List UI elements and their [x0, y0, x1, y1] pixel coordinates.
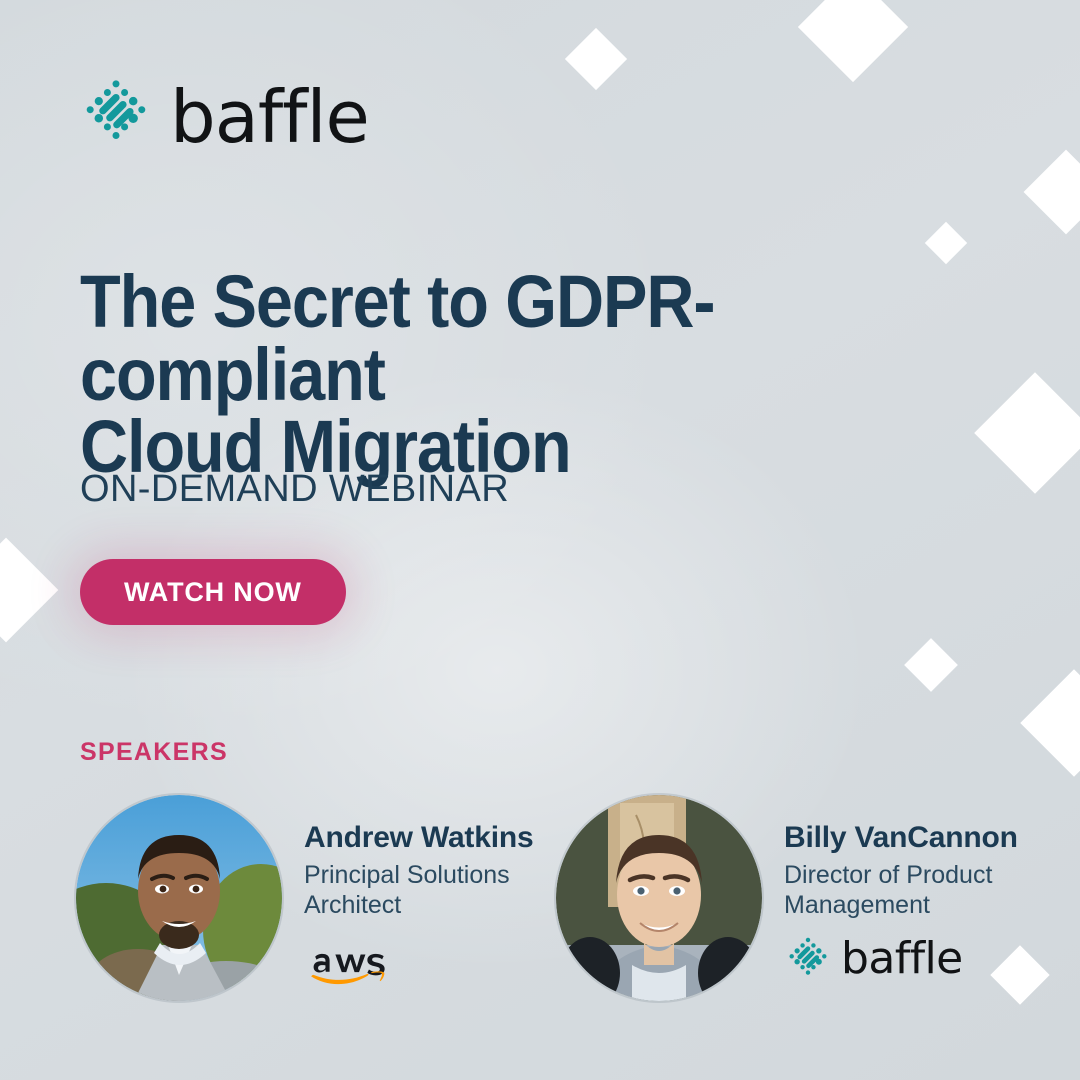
- speakers-heading: SPEAKERS: [80, 738, 228, 767]
- webinar-type-label: ON-DEMAND WEBINAR: [80, 468, 509, 511]
- baffle-wordmark: baffle: [841, 937, 963, 981]
- decorative-diamond: [1020, 669, 1080, 776]
- speaker-title: Director of Product Management: [784, 861, 1018, 920]
- speaker-photo-andrew-watkins: [76, 795, 282, 1001]
- baffle-logo-icon: baffle: [784, 932, 1018, 986]
- decorative-diamond: [565, 28, 627, 90]
- baffle-diamond-dots-logo-icon: [78, 76, 154, 157]
- decorative-diamond: [974, 372, 1080, 494]
- decorative-diamond: [0, 538, 58, 643]
- speaker-photo-billy-vancannon: [556, 795, 762, 1001]
- webinar-promo-poster: baffle The Secret to GDPR-compliant Clou…: [0, 0, 1080, 1080]
- brand-wordmark: baffle: [170, 81, 369, 153]
- decorative-diamond: [1024, 150, 1080, 235]
- page-title: The Secret to GDPR-compliant Cloud Migra…: [80, 266, 926, 484]
- speaker-info-billy-vancannon: Billy VanCannon Director of Product Mana…: [762, 795, 1018, 986]
- speaker-card-billy-vancannon: Billy VanCannon Director of Product Mana…: [556, 795, 1036, 1001]
- decorative-diamond: [798, 0, 908, 82]
- speakers-list: Andrew Watkins Principal Solutions Archi…: [76, 795, 1056, 1001]
- decorative-diamond: [925, 222, 967, 264]
- aws-logo-icon: [304, 932, 533, 986]
- brand-logo: baffle: [78, 76, 369, 157]
- speaker-name: Billy VanCannon: [784, 821, 1018, 854]
- speaker-info-andrew-watkins: Andrew Watkins Principal Solutions Archi…: [282, 795, 533, 986]
- decorative-diamond: [904, 638, 958, 692]
- speaker-name: Andrew Watkins: [304, 821, 533, 854]
- cta-container: WATCH NOW: [80, 559, 346, 625]
- watch-now-button[interactable]: WATCH NOW: [80, 559, 346, 625]
- speaker-title: Principal Solutions Architect: [304, 861, 533, 920]
- speaker-card-andrew-watkins: Andrew Watkins Principal Solutions Archi…: [76, 795, 556, 1001]
